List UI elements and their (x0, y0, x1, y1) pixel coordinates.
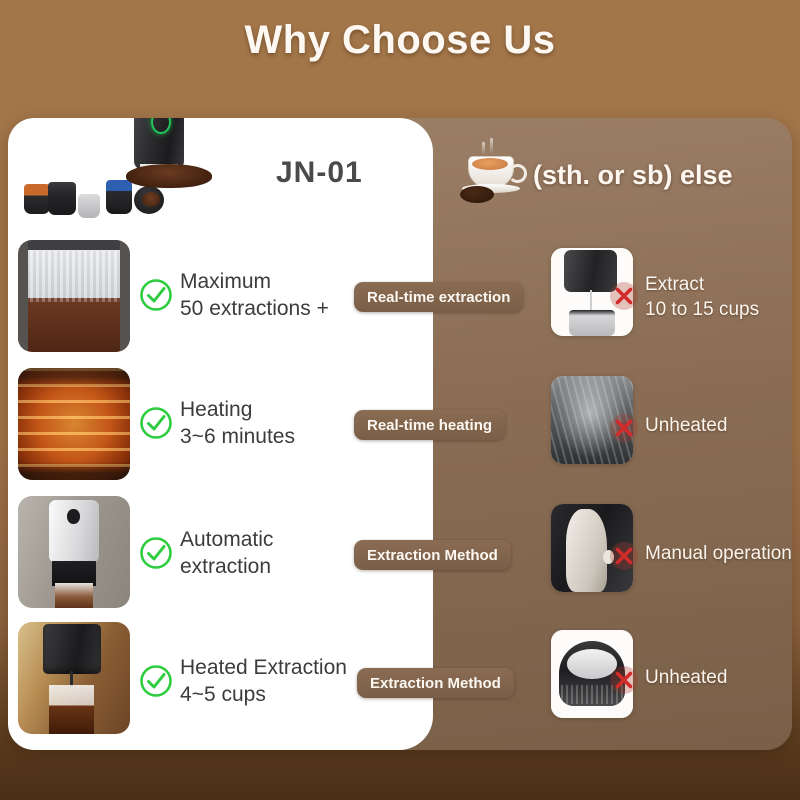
feature-line-1: Heating (180, 396, 295, 423)
feature-line-2: extraction (180, 553, 273, 580)
coffee-grounds-decoration (126, 164, 212, 188)
product-feature-text: Heating 3~6 minutes (180, 396, 295, 450)
feature-line-1: Unheated (645, 665, 727, 690)
green-check-icon (139, 664, 173, 698)
competitor-feature-text: Unheated (645, 413, 727, 438)
comparison-row: Maximum 50 extractions + Real-time extra… (8, 236, 792, 364)
feature-line-1: Extract (645, 272, 759, 297)
green-check-icon (139, 278, 173, 312)
product-model-label: JN-01 (276, 156, 363, 190)
competitor-feature-text: Extract 10 to 15 cups (645, 272, 759, 322)
feature-line-1: Heated Extraction (180, 654, 347, 681)
feature-line-1: Unheated (645, 413, 727, 438)
comparison-card: JN-01 (sth. or sb) else (8, 118, 792, 750)
feature-line-2: 4~5 cups (180, 681, 347, 708)
green-check-icon (139, 536, 173, 570)
comparison-category-badge: Extraction Method (357, 668, 514, 698)
comparison-row: Heated Extraction 4~5 cups Extraction Me… (8, 618, 792, 746)
comparison-infographic: Why Choose Us JN-01 (0, 0, 800, 800)
brew-chamber-thumbnail (18, 240, 130, 352)
green-check-icon (139, 406, 173, 440)
product-feature-text: Maximum 50 extractions + (180, 268, 329, 322)
comparison-row: Automatic extraction Extraction Method M… (8, 492, 792, 620)
heating-coils-thumbnail (18, 368, 130, 480)
feature-line-1: Automatic (180, 526, 273, 553)
automatic-machine-thumbnail (18, 496, 130, 608)
competitor-feature-text: Unheated (645, 665, 727, 690)
competitor-label: (sth. or sb) else (533, 160, 733, 191)
heated-extraction-thumbnail (18, 622, 130, 734)
red-cross-icon (608, 664, 640, 696)
competitor-column-header: (sth. or sb) else (433, 118, 792, 236)
red-cross-icon (608, 540, 640, 572)
comparison-category-badge: Real-time heating (354, 410, 505, 440)
red-cross-icon (608, 280, 640, 312)
feature-line-1: Maximum (180, 268, 329, 295)
feature-line-2: 3~6 minutes (180, 423, 295, 450)
page-title: Why Choose Us (0, 18, 800, 63)
product-feature-text: Heated Extraction 4~5 cups (180, 654, 347, 708)
comparison-category-badge: Extraction Method (354, 540, 511, 570)
coffee-cup-icon (460, 146, 530, 204)
feature-line-2: 50 extractions + (180, 295, 329, 322)
comparison-category-badge: Real-time extraction (354, 282, 523, 312)
product-column-header: JN-01 (8, 118, 433, 236)
feature-line-2: 10 to 15 cups (645, 297, 759, 322)
comparison-row: Heating 3~6 minutes Real-time heating Un… (8, 364, 792, 492)
product-feature-text: Automatic extraction (180, 526, 273, 580)
red-cross-icon (608, 412, 640, 444)
feature-line-1: Manual operation (645, 541, 792, 566)
competitor-feature-text: Manual operation (645, 541, 792, 566)
